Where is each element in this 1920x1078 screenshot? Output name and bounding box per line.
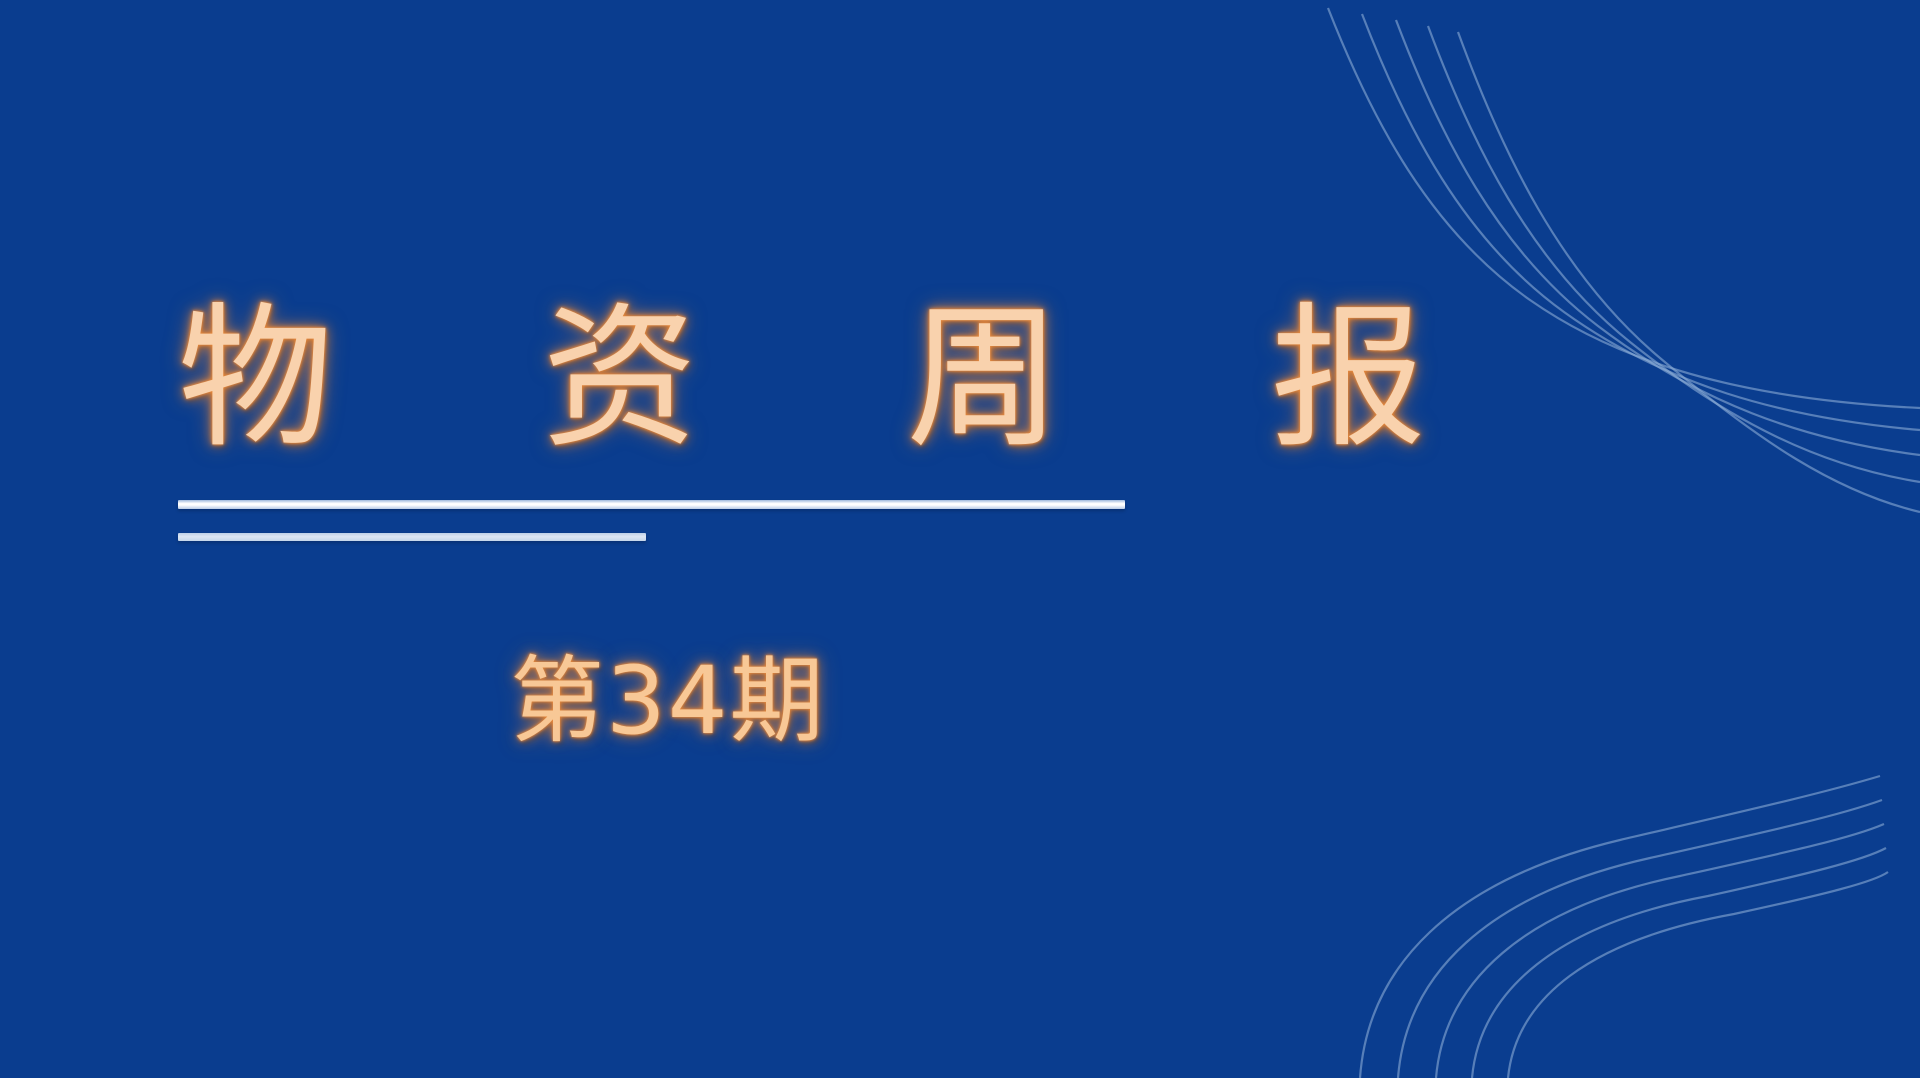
- title-underline-long: [178, 500, 1125, 509]
- deco-arc-3: [1436, 824, 1884, 1078]
- deco-curve-5: [1458, 32, 1920, 512]
- deco-arc-1: [1360, 776, 1880, 1078]
- title-slide: 物 资 周 报 第34期: [0, 0, 1920, 1078]
- issue-subtitle: 第34期: [510, 648, 826, 756]
- title-underline-short: [178, 533, 646, 541]
- arc-curves-bottom-right-decoration: [1320, 748, 1920, 1078]
- page-title: 物 资 周 报: [178, 292, 1178, 466]
- deco-arc-4: [1472, 848, 1886, 1078]
- swoosh-curves-top-right-decoration: [1280, 0, 1920, 570]
- deco-arc-5: [1508, 872, 1888, 1078]
- title-block: 物 资 周 报: [178, 292, 1178, 466]
- deco-arc-2: [1398, 800, 1882, 1078]
